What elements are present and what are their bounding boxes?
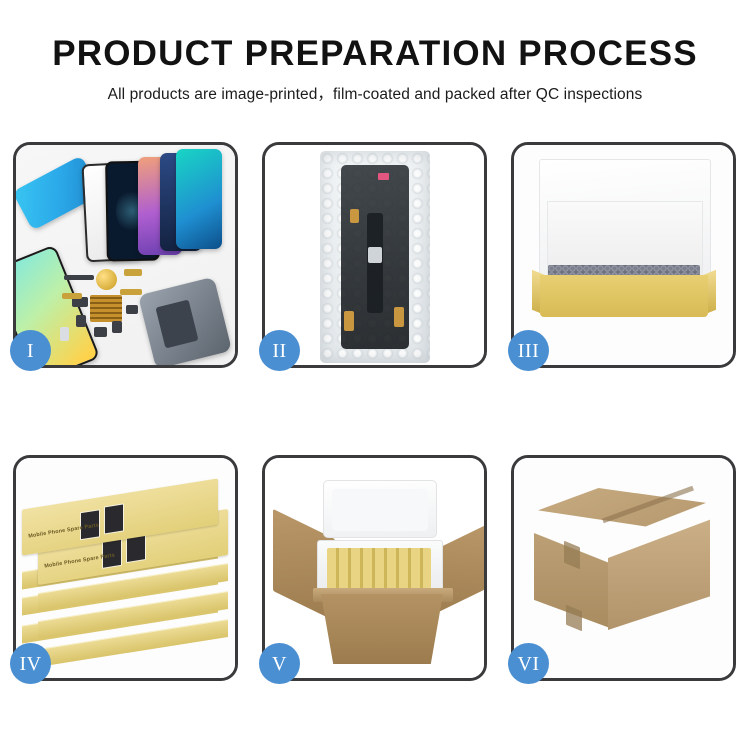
carton-body — [321, 594, 443, 664]
process-step-panel-3: III — [511, 142, 736, 368]
small-part — [64, 275, 94, 280]
gold-box-front — [540, 275, 708, 317]
small-part — [94, 327, 107, 337]
carton-right-face — [608, 510, 710, 630]
step-badge-3: III — [508, 330, 549, 371]
bubble-wrap-bag — [320, 151, 430, 363]
process-step-panel-4: Mobile Phone Spare Parts Mobile Phone Sp… — [13, 455, 238, 681]
flex-cable — [62, 293, 82, 299]
step-badge-4: IV — [10, 643, 51, 684]
process-step-panel-2: II — [262, 142, 487, 368]
page-title: PRODUCT PREPARATION PROCESS — [0, 34, 750, 74]
phone-back-housing — [138, 277, 232, 365]
page-subtitle: All products are image-printed，film-coat… — [0, 85, 750, 105]
screen-flex-tail — [367, 213, 383, 313]
small-part — [112, 321, 122, 333]
page-header: PRODUCT PREPARATION PROCESS All products… — [0, 0, 750, 105]
step-5-photo — [265, 458, 484, 678]
gold-contact — [344, 311, 354, 331]
small-part — [76, 315, 86, 327]
process-step-panel-5: V — [262, 455, 487, 681]
step-badge-1: I — [10, 330, 51, 371]
phone-teal-screen — [176, 149, 222, 249]
flex-cable — [120, 289, 142, 295]
flex-cable — [124, 269, 142, 276]
gold-contact — [394, 307, 404, 327]
gold-contact — [350, 209, 359, 223]
step-6-photo — [514, 458, 733, 678]
step-2-photo — [265, 145, 484, 365]
gold-boxes-inside — [327, 548, 431, 590]
step-badge-2: II — [259, 330, 300, 371]
screen-connector — [368, 247, 382, 263]
step-4-photo: Mobile Phone Spare Parts Mobile Phone Sp… — [16, 458, 235, 678]
step-badge-5: V — [259, 643, 300, 684]
small-part — [126, 305, 138, 314]
process-step-panel-1: I — [13, 142, 238, 368]
step-badge-6: VI — [508, 643, 549, 684]
step-1-photo — [16, 145, 235, 365]
ic-chip-grid — [90, 295, 122, 322]
small-part — [60, 327, 69, 341]
step-3-photo — [514, 145, 733, 365]
process-step-grid: I II III — [13, 142, 737, 742]
box-screen-image — [104, 503, 124, 534]
process-step-panel-6: VI — [511, 455, 736, 681]
wireless-charging-coil — [96, 269, 117, 290]
styrofoam-lid — [323, 480, 437, 538]
qc-sticker — [378, 173, 389, 180]
